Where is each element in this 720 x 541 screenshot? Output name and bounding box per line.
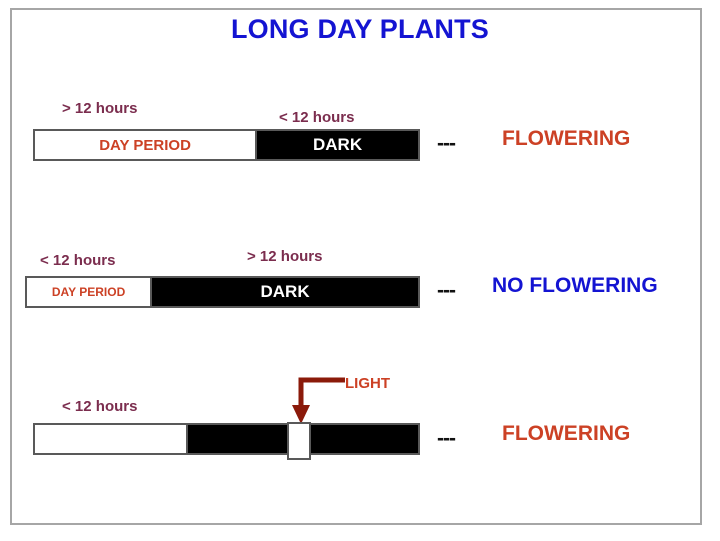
row1-day-hours-label: > 12 hours (62, 100, 137, 117)
row1-dashes: --- (437, 132, 455, 156)
row1-result-label: FLOWERING (502, 127, 630, 151)
row3-result-label: FLOWERING (502, 422, 630, 446)
row3-day-hours-label: < 12 hours (62, 398, 137, 415)
page-title: LONG DAY PLANTS (0, 14, 720, 45)
row1-dark-hours-label: < 12 hours (279, 109, 354, 126)
row3-timeline-bar (33, 423, 420, 455)
row3-dashes: --- (437, 427, 455, 451)
light-annotation-label: LIGHT (345, 375, 390, 392)
row2-result-label: NO FLOWERING (492, 274, 658, 298)
row3-light-break-segment (287, 422, 311, 460)
row3-day-segment (35, 425, 188, 453)
row1-timeline-bar: DAY PERIOD DARK (33, 129, 420, 161)
row2-dashes: --- (437, 279, 455, 303)
row1-day-segment: DAY PERIOD (35, 131, 257, 159)
row2-day-hours-label: < 12 hours (40, 252, 115, 269)
row2-day-segment: DAY PERIOD (27, 278, 152, 306)
row1-dark-segment: DARK (257, 131, 418, 159)
light-arrow-icon (285, 374, 347, 426)
row2-dark-segment: DARK (152, 278, 418, 306)
row2-timeline-bar: DAY PERIOD DARK (25, 276, 420, 308)
row2-dark-hours-label: > 12 hours (247, 248, 322, 265)
